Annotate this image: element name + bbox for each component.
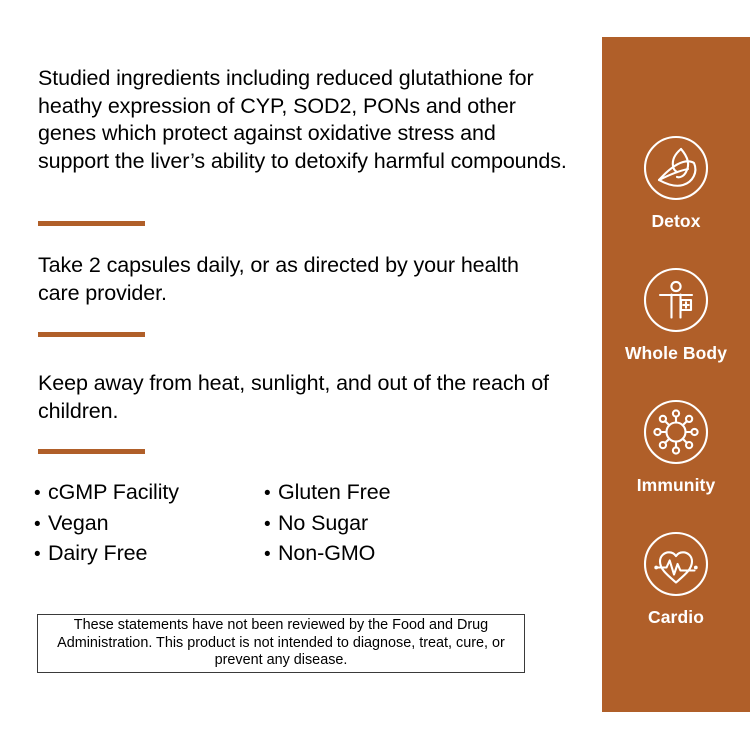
- benefit-label: Immunity: [637, 475, 716, 495]
- fda-disclaimer-text: These statements have not been reviewed …: [38, 617, 524, 670]
- benefit-label: Whole Body: [625, 343, 727, 363]
- list-item: Gluten Free: [264, 478, 494, 509]
- benefit-item-whole-body: Whole Body: [602, 264, 750, 363]
- dosage-paragraph: Take 2 capsules daily, or as directed by…: [38, 252, 558, 307]
- benefit-label: Cardio: [648, 607, 704, 627]
- benefit-label: Detox: [651, 211, 700, 231]
- benefit-item-cardio: Cardio: [602, 528, 750, 627]
- section-divider-3: [38, 449, 145, 454]
- storage-paragraph: Keep away from heat, sunlight, and out o…: [38, 370, 558, 425]
- list-item: cGMP Facility: [34, 478, 264, 509]
- list-item: No Sugar: [264, 509, 494, 540]
- benefit-item-detox: Detox: [602, 132, 750, 231]
- intro-paragraph: Studied ingredients including reduced gl…: [38, 65, 568, 175]
- section-divider-2: [38, 332, 145, 337]
- heart-pulse-icon: [640, 528, 712, 600]
- section-divider-1: [38, 221, 145, 226]
- benefits-sidebar: Detox Whole Body: [602, 37, 750, 712]
- list-item: Vegan: [34, 509, 264, 540]
- benefit-item-immunity: Immunity: [602, 396, 750, 495]
- list-item: Dairy Free: [34, 539, 264, 570]
- cell-molecule-icon: [640, 396, 712, 468]
- list-item: Non-GMO: [264, 539, 494, 570]
- content-column: Studied ingredients including reduced gl…: [0, 0, 602, 750]
- leaf-icon: [640, 132, 712, 204]
- human-body-plus-icon: [640, 264, 712, 336]
- features-column-right: Gluten Free No Sugar Non-GMO: [264, 478, 494, 570]
- fda-disclaimer-box: These statements have not been reviewed …: [37, 614, 525, 673]
- features-list: cGMP Facility Vegan Dairy Free Gluten Fr…: [34, 478, 554, 570]
- features-column-left: cGMP Facility Vegan Dairy Free: [34, 478, 264, 570]
